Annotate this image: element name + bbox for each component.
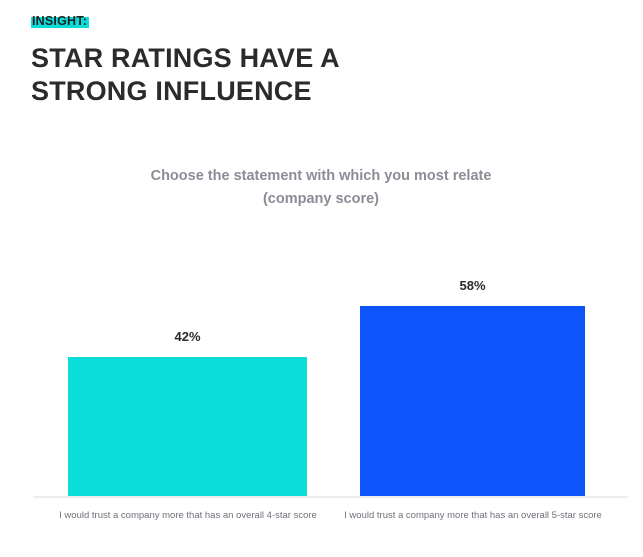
insight-eyebrow: INSIGHT:	[31, 13, 89, 29]
bar-group: 42%	[68, 357, 307, 496]
page-title: STAR RATINGS HAVE A STRONG INFLUENCE	[31, 42, 391, 108]
bar-5-star[interactable]	[360, 306, 585, 496]
category-label: I would trust a company more that has an…	[333, 508, 613, 523]
insight-header: INSIGHT: STAR RATINGS HAVE A STRONG INFL…	[31, 12, 591, 108]
x-axis-line	[33, 496, 628, 498]
bar-group: 58%	[360, 306, 585, 496]
bar-value-label: 42%	[68, 329, 307, 345]
category-label: I would trust a company more that has an…	[48, 508, 328, 523]
insight-eyebrow-label: INSIGHT:	[32, 13, 87, 29]
plot-area: 42% 58% I would trust a company more tha…	[0, 150, 643, 557]
bar-chart: Choose the statement with which you most…	[0, 150, 643, 557]
bar-value-label: 58%	[360, 278, 585, 294]
bar-4-star[interactable]	[68, 357, 307, 496]
